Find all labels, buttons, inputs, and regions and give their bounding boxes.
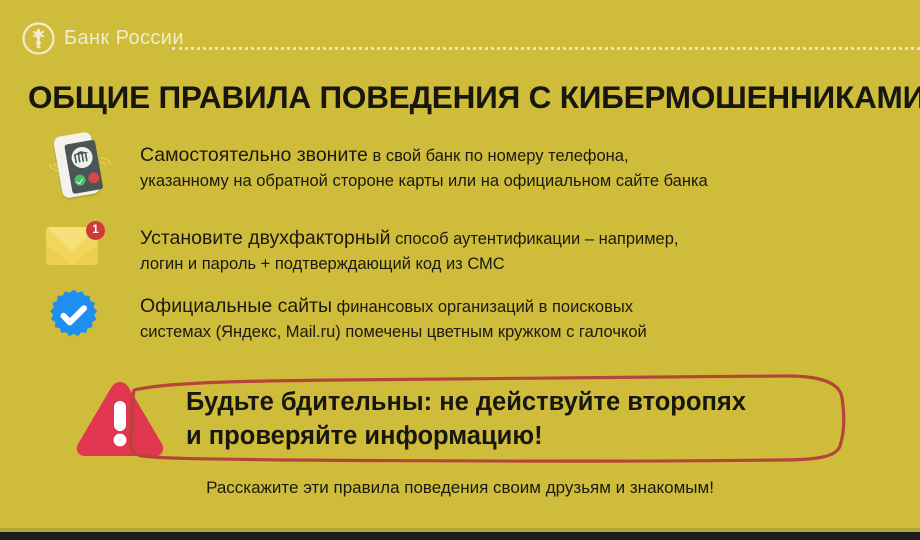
rule-text: Самостоятельно звоните в свой банк по но…	[140, 142, 880, 193]
call-accept-icon	[73, 174, 86, 187]
rule-text: Официальные сайты финансовых организаций…	[140, 293, 880, 344]
bottom-edge-bar	[0, 532, 920, 540]
notification-badge: 1	[86, 221, 105, 240]
rule-rest: финансовых организаций в поисковых	[332, 298, 633, 316]
rule-line2: логин и пароль + подтверждающий код из С…	[140, 253, 880, 276]
rule-rest: способ аутентификации – например,	[391, 230, 679, 248]
rule-rest: в свой банк по номеру телефона,	[368, 147, 629, 165]
rule-item: 1 Установите двухфакторный способ аутент…	[36, 215, 886, 285]
rule-line2: указанному на обратной стороне карты или…	[140, 170, 880, 193]
logo-text: Банк России	[64, 27, 184, 50]
rule-lead: Самостоятельно звоните	[140, 144, 368, 166]
verified-checkmark-icon	[36, 283, 120, 353]
footer-note: Расскажите эти правила поведения своим д…	[0, 478, 920, 498]
slide-canvas: Банк России ОБЩИЕ ПРАВИЛА ПОВЕДЕНИЯ С КИ…	[0, 0, 920, 540]
warning-triangle-icon	[72, 378, 168, 460]
smartphone-call-icon	[36, 132, 120, 202]
slide-header: Банк России	[0, 0, 920, 62]
callout-line-1: Будьте бдительны: не действуйте второпях	[186, 386, 856, 420]
bank-building-icon	[69, 145, 93, 169]
phone-body	[53, 131, 101, 199]
header-divider	[172, 47, 920, 50]
phone-screen	[64, 140, 103, 195]
rule-text: Установите двухфакторный способ аутентиф…	[140, 225, 880, 276]
callout-line-2: и проверяйте информацию!	[186, 420, 856, 454]
callout-text: Будьте бдительны: не действуйте второпях…	[186, 386, 856, 453]
rule-item: Самостоятельно звоните в свой банк по но…	[36, 132, 886, 202]
rule-lead: Официальные сайты	[140, 295, 332, 317]
page-title: ОБЩИЕ ПРАВИЛА ПОВЕДЕНИЯ С КИБЕРМОШЕННИКА…	[28, 79, 898, 116]
rule-item: Официальные сайты финансовых организаций…	[36, 283, 886, 353]
bank-of-russia-emblem-icon	[22, 22, 55, 55]
rule-lead: Установите двухфакторный	[140, 227, 391, 249]
envelope-notification-icon: 1	[36, 215, 120, 285]
rule-line2: системах (Яндекс, Mail.ru) помечены цвет…	[140, 321, 880, 344]
call-decline-icon	[87, 171, 100, 184]
